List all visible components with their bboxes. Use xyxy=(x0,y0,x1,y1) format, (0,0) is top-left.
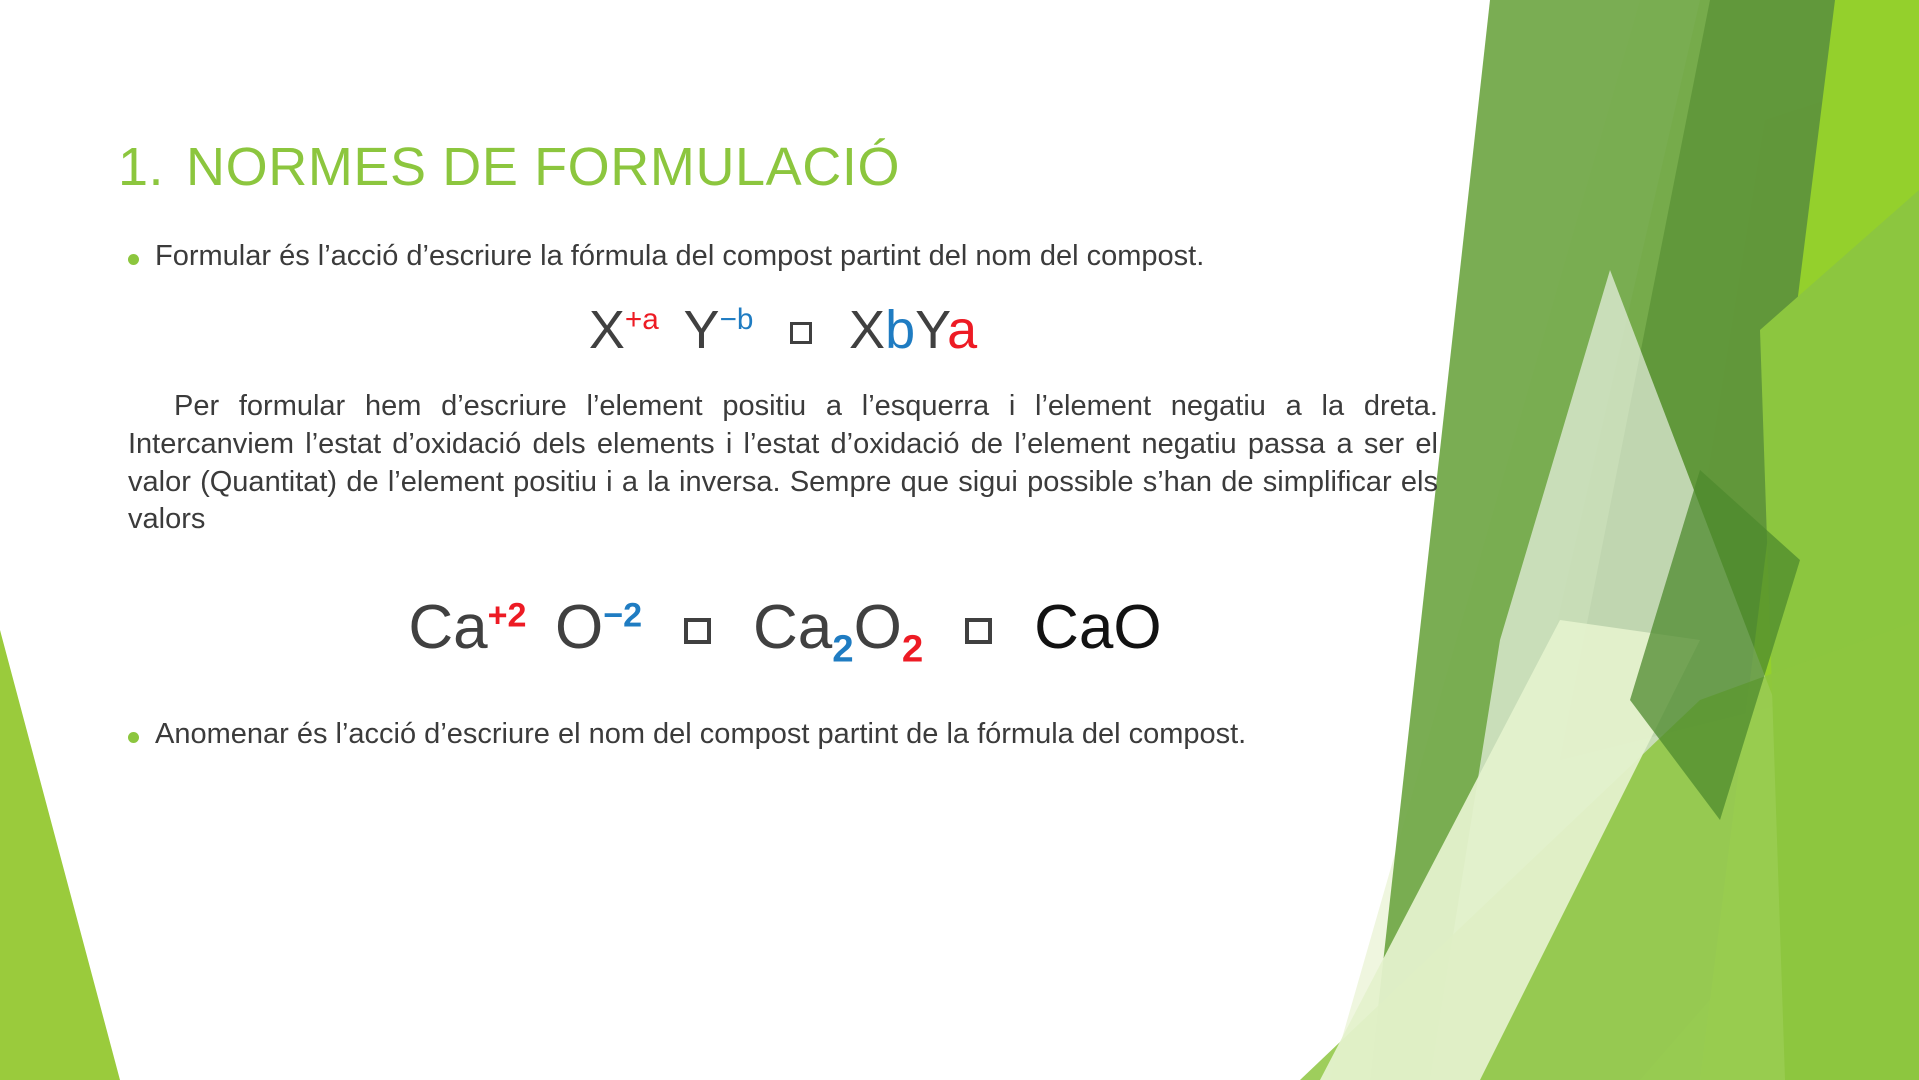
slide-title-block: 1. NORMES DE FORMULACIÓ xyxy=(118,104,1218,230)
formula-arrow-box-icon xyxy=(790,322,812,344)
deco-shape-darker-olive xyxy=(1560,0,1919,760)
deco-shape-dark-olive xyxy=(1370,0,1919,1080)
generic-formula: X+aY−bXbYa xyxy=(128,302,1438,359)
example-final-formula: CaO xyxy=(1034,593,1161,662)
formula-left-symbol: X xyxy=(589,300,625,360)
deco-shape-left-wedge xyxy=(0,630,120,1080)
formula-right-symbol: Y xyxy=(684,300,720,360)
example-right-symbol: O xyxy=(555,593,603,662)
example-step-element-2: O xyxy=(854,593,902,662)
bullet-dot-icon xyxy=(128,254,139,265)
page-title: NORMES DE FORMULACIÓ xyxy=(186,140,900,194)
formula-result-sub-1: b xyxy=(885,300,915,360)
deco-shape-bright-green-edge xyxy=(1700,0,1919,1080)
example-arrow-box-icon-2 xyxy=(965,618,992,645)
example-left-symbol: Ca xyxy=(408,593,487,662)
formula-result-element-2: Y xyxy=(915,300,947,360)
example-step-sub-2: 2 xyxy=(902,628,923,671)
calcium-oxide-example-formula: Ca+2O−2Ca2O2CaO xyxy=(128,595,1438,660)
list-item: Formular és l’acció d’escriure la fórmul… xyxy=(128,238,1438,276)
example-left-charge: +2 xyxy=(488,596,527,634)
deco-shape-vivid-green-band xyxy=(1760,190,1919,1080)
formula-left-charge: +a xyxy=(625,303,659,336)
list-item: Anomenar és l’acció d’escriure el nom de… xyxy=(128,716,1438,754)
example-arrow-box-icon-1 xyxy=(684,618,711,645)
paragraph-text: Per formular hem d’escriure l’element po… xyxy=(128,390,1438,535)
deco-shape-dark-accent-center xyxy=(1630,470,1800,820)
formula-result-sub-2: a xyxy=(947,300,977,360)
deco-shape-pale-overlay xyxy=(1430,270,1919,1080)
example-step-sub-1: 2 xyxy=(832,628,853,671)
bullet-text-formular: Formular és l’acció d’escriure la fórmul… xyxy=(155,238,1204,276)
formula-right-charge: −b xyxy=(720,303,754,336)
slide-content: Formular és l’acció d’escriure la fórmul… xyxy=(128,238,1438,754)
explanation-paragraph: Per formular hem d’escriure l’element po… xyxy=(128,388,1438,539)
deco-shape-light-green-right xyxy=(1452,0,1919,1080)
title-number: 1. xyxy=(118,140,164,194)
example-step-element-1: Ca xyxy=(753,593,832,662)
deco-shape-mid-green-right xyxy=(1610,70,1919,1080)
formula-result-element-1: X xyxy=(849,300,885,360)
example-right-charge: −2 xyxy=(603,596,642,634)
slide: 1. NORMES DE FORMULACIÓ Formular és l’ac… xyxy=(0,0,1919,1080)
bullet-text-anomenar: Anomenar és l’acció d’escriure el nom de… xyxy=(155,716,1246,754)
bullet-dot-icon xyxy=(128,732,139,743)
